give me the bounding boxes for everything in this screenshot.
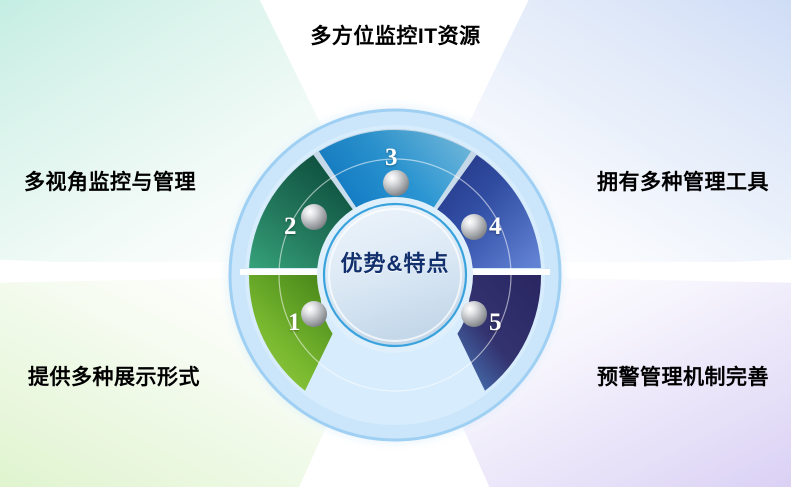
center-hub-label: 优势&特点 <box>322 253 468 275</box>
label-left-bottom: 提供多种展示形式 <box>28 367 200 388</box>
segment-number-1: 1 <box>288 310 301 335</box>
segment-number-5: 5 <box>489 310 502 335</box>
advantage-ring <box>0 0 791 487</box>
label-left-top: 多视角监控与管理 <box>24 172 196 193</box>
segment-number-4: 4 <box>489 214 502 239</box>
label-top: 多方位监控IT资源 <box>0 26 791 47</box>
segment-number-3: 3 <box>385 145 398 170</box>
marker-sphere-4[interactable] <box>461 214 487 240</box>
marker-sphere-1[interactable] <box>301 301 327 327</box>
label-right-top: 拥有多种管理工具 <box>597 172 769 193</box>
label-right-bottom: 预警管理机制完善 <box>597 367 769 388</box>
marker-sphere-2[interactable] <box>301 204 327 230</box>
segment-number-2: 2 <box>284 214 297 239</box>
infographic-canvas: 1 2 3 4 5 优势&特点 多方位监控IT资源 多视角监控与管理 提供多种展… <box>0 0 791 487</box>
marker-sphere-3[interactable] <box>383 170 409 196</box>
marker-sphere-5[interactable] <box>461 301 487 327</box>
